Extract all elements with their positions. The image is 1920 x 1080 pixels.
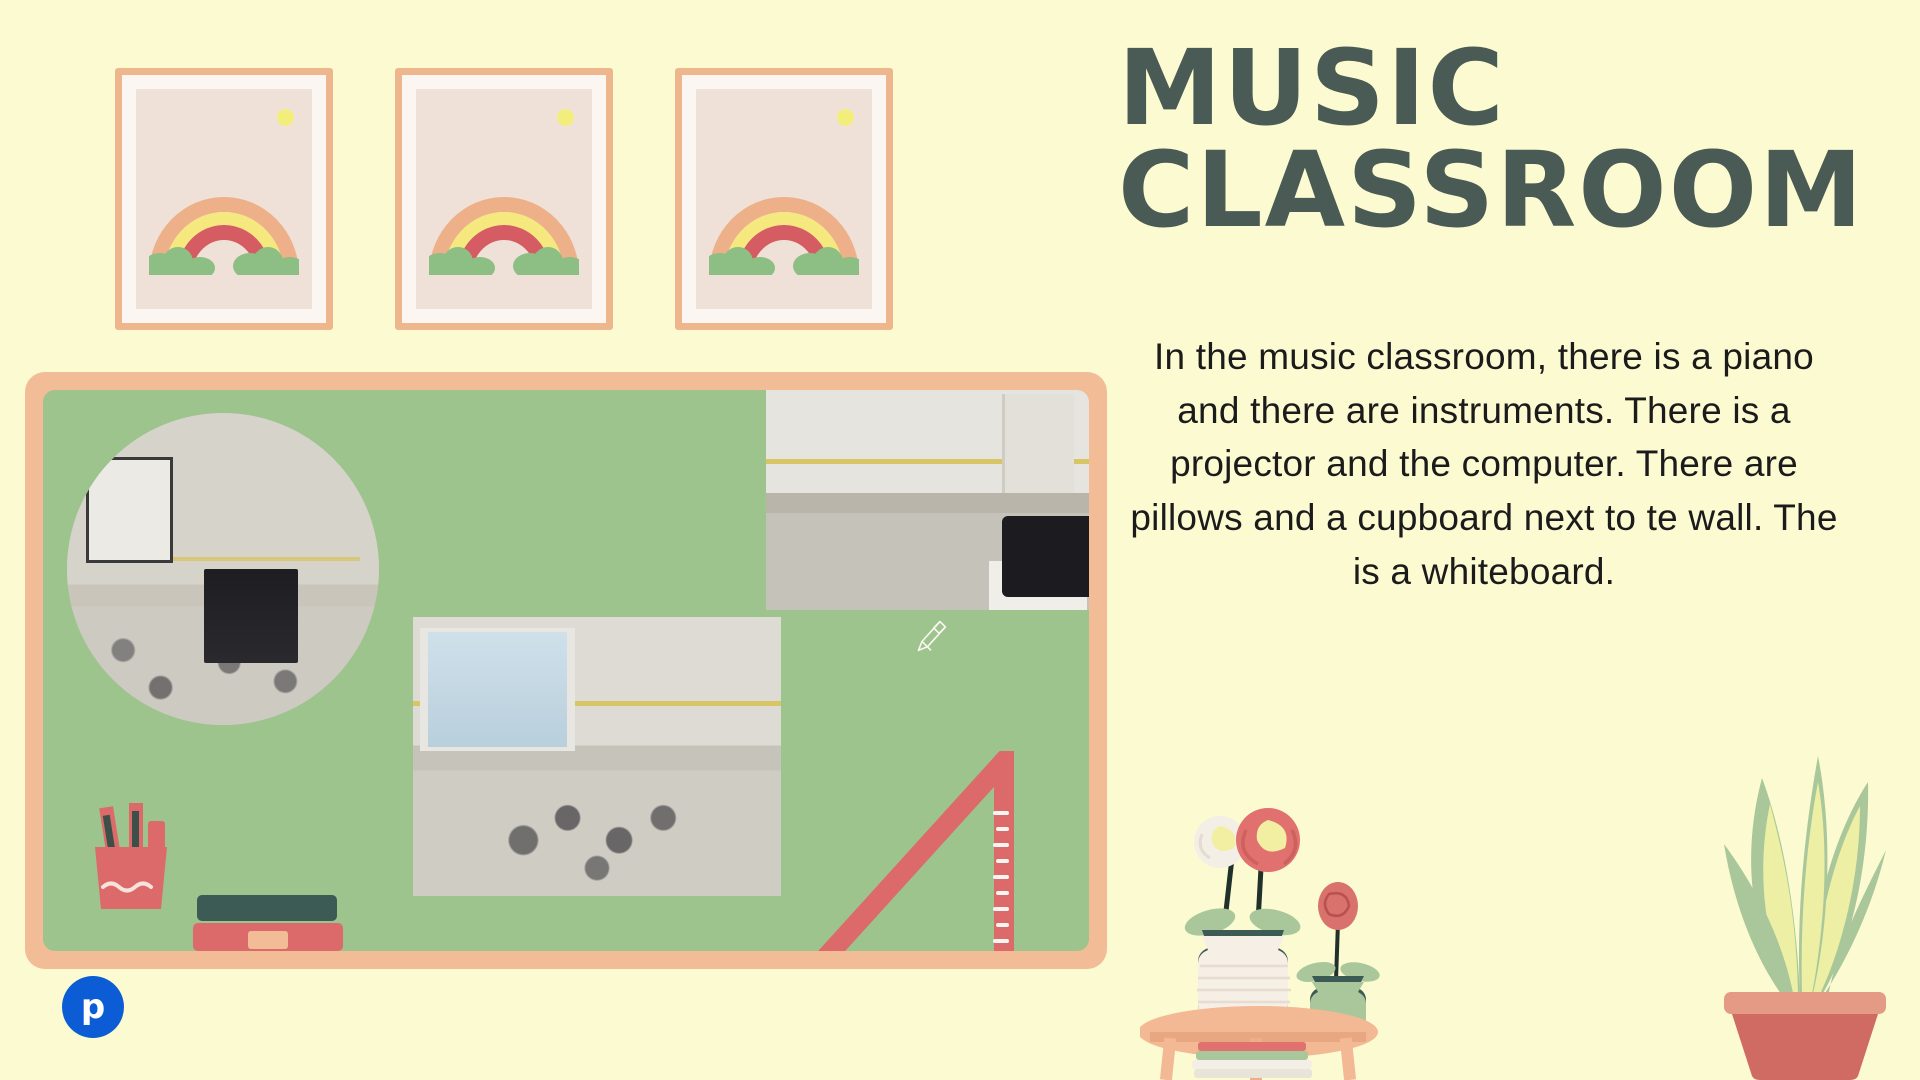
sun-icon	[557, 109, 574, 126]
rainbow-poster-3	[675, 68, 893, 330]
sun-icon	[837, 109, 854, 126]
photo-shelves	[766, 390, 1089, 610]
rainbow-poster-1	[115, 68, 333, 330]
cloud-icon	[709, 249, 775, 275]
poster-art	[136, 89, 312, 309]
page-title: MUSIC CLASSROOM	[1118, 38, 1908, 242]
flower-table-illustration	[1140, 770, 1390, 1080]
book-stack-icon	[193, 889, 343, 951]
cloud-icon	[149, 249, 215, 275]
plant-pot-icon	[1724, 992, 1886, 1080]
rainbow-icon	[709, 197, 859, 275]
rainbow-icon	[149, 197, 299, 275]
photo-board	[43, 390, 1089, 951]
flower-red-icon	[1236, 808, 1300, 922]
photo-piano-circle	[67, 413, 379, 725]
rainbow-poster-2	[395, 68, 613, 330]
pencil-cup-icon	[85, 795, 177, 915]
snake-plant-illustration	[1700, 730, 1910, 1080]
poster-group	[115, 68, 893, 330]
shelf-books-icon	[1192, 1042, 1312, 1078]
body-paragraph: In the music classroom, there is a piano…	[1120, 330, 1848, 598]
cloud-icon	[429, 249, 495, 275]
cloud-icon	[793, 249, 859, 275]
plant-leaves-icon	[1724, 756, 1886, 998]
slide-canvas: MUSIC CLASSROOM In the music classroom, …	[0, 0, 1920, 1080]
sun-icon	[277, 109, 294, 126]
pencil-outline-icon	[913, 618, 949, 654]
poster-art	[416, 89, 592, 309]
canva-badge[interactable]: p	[62, 976, 124, 1038]
photo-board-frame	[25, 372, 1107, 969]
cloud-icon	[233, 249, 299, 275]
photo-cushion-circle	[413, 617, 781, 896]
triangle-ruler-icon	[799, 751, 1049, 951]
cloud-icon	[513, 249, 579, 275]
poster-art	[696, 89, 872, 309]
rainbow-icon	[429, 197, 579, 275]
